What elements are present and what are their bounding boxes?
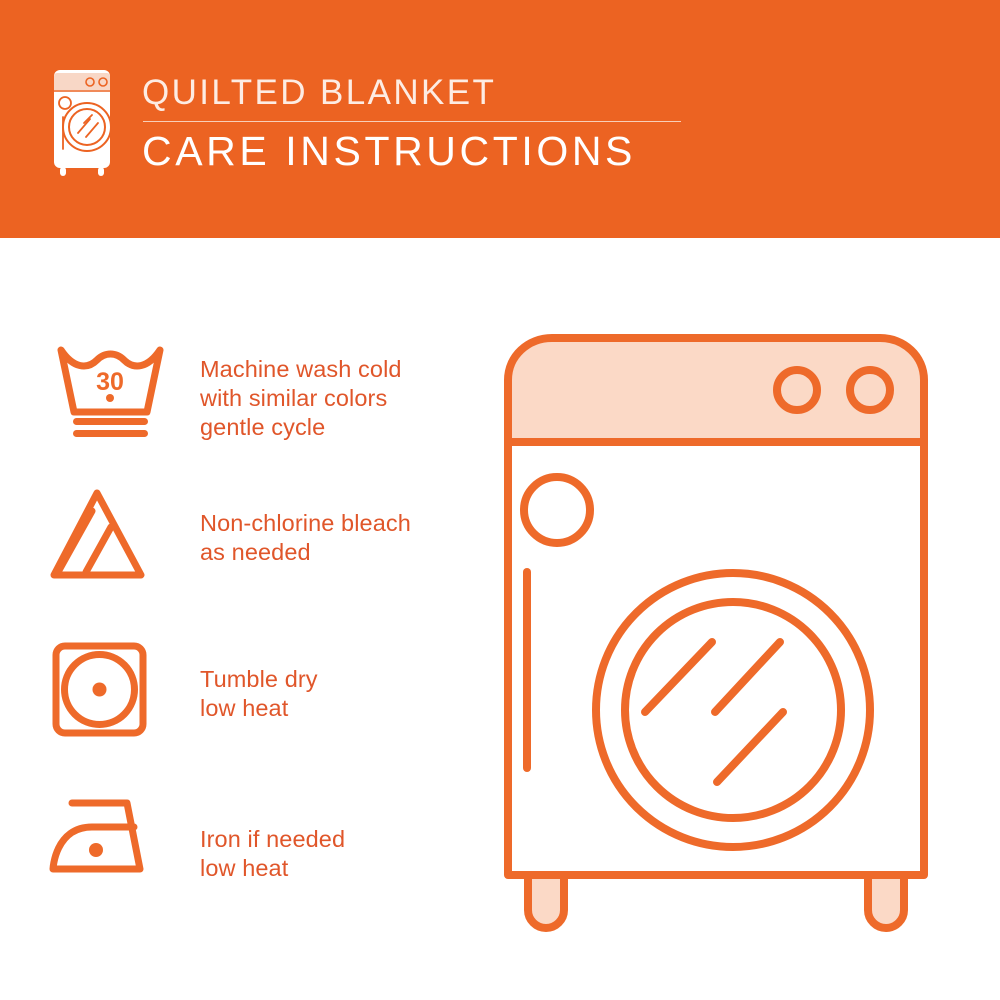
care-instructions-infographic: QUILTED BLANKET CARE INSTRUCTIONS 30 Mac… [0, 0, 1000, 1000]
care-item-iron: Iron if needed low heat [0, 793, 470, 933]
page-title-bottom: CARE INSTRUCTIONS [142, 126, 742, 176]
care-item-bleach: Non-chlorine bleach as needed [0, 483, 470, 623]
care-item-machine-wash: 30 Machine wash cold with similar colors… [0, 338, 470, 478]
wash-temperature-value: 30 [96, 368, 124, 396]
foot-right [868, 875, 904, 928]
title-divider [143, 121, 681, 122]
care-item-label: Machine wash cold with similar colors ge… [200, 355, 402, 442]
page-title-top: QUILTED BLANKET [142, 72, 742, 114]
iron-low-heat-icon [48, 793, 173, 903]
foot-left [528, 875, 564, 928]
care-item-label: Tumble dry low heat [200, 665, 318, 723]
door-outer-ring [596, 573, 870, 847]
non-chlorine-bleach-triangle-icon [48, 483, 173, 593]
door-inner-ring [625, 602, 841, 818]
care-instruction-list: 30 Machine wash cold with similar colors… [0, 238, 470, 1000]
header-banner: QUILTED BLANKET CARE INSTRUCTIONS [0, 0, 1000, 238]
care-item-label: Non-chlorine bleach as needed [200, 509, 411, 567]
front-load-washing-machine-illustration [480, 320, 980, 950]
header-title-group: QUILTED BLANKET CARE INSTRUCTIONS [142, 72, 742, 176]
washing-machine-icon [44, 67, 114, 179]
care-item-label: Iron if needed low heat [200, 825, 345, 883]
dispenser-icon [524, 477, 590, 543]
care-item-tumble-dry: Tumble dry low heat [0, 638, 470, 778]
wash-tub-30-gentle-icon: 30 [48, 338, 173, 448]
tumble-dry-low-heat-icon [48, 638, 173, 748]
